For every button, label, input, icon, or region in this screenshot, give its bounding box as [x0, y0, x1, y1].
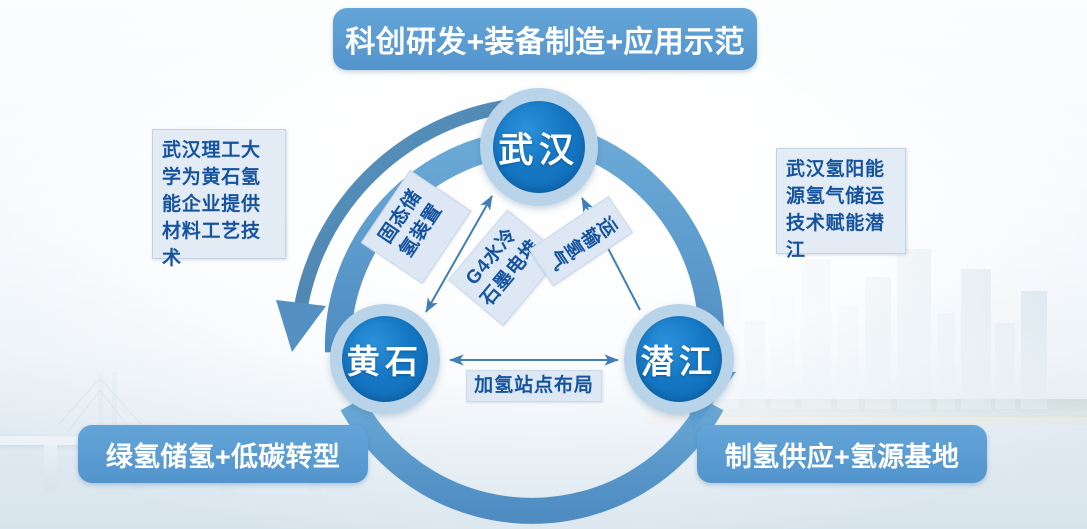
infographic-canvas: 武汉 黄石 潜江 科创研发+装备制造+应用示范 绿氢储氢+低碳转型 制氢供应+氢… [0, 0, 1087, 529]
banner-top: 科创研发+装备制造+应用示范 [333, 8, 757, 70]
node-wuhan[interactable]: 武汉 [480, 88, 598, 206]
banner-bottom-right: 制氢供应+氢源基地 [697, 425, 987, 483]
node-qianjiang[interactable]: 潜江 [624, 304, 734, 414]
node-label: 潜江 [641, 335, 718, 383]
node-huangshi[interactable]: 黄石 [330, 304, 440, 414]
arc-huangshi-to-qianjiang [352, 404, 712, 511]
callout-left: 武汉理工大学为黄石氢能企业提供材料工艺技术 [152, 129, 286, 259]
label-station-layout: 加氢站点布局 [466, 370, 602, 402]
node-label: 武汉 [498, 122, 579, 173]
callout-right: 武汉氢阳能源氢气储运技术赋能潜江 [776, 148, 906, 254]
banner-bottom-left: 绿氢储氢+低碳转型 [78, 425, 368, 483]
node-label: 黄石 [347, 335, 424, 383]
